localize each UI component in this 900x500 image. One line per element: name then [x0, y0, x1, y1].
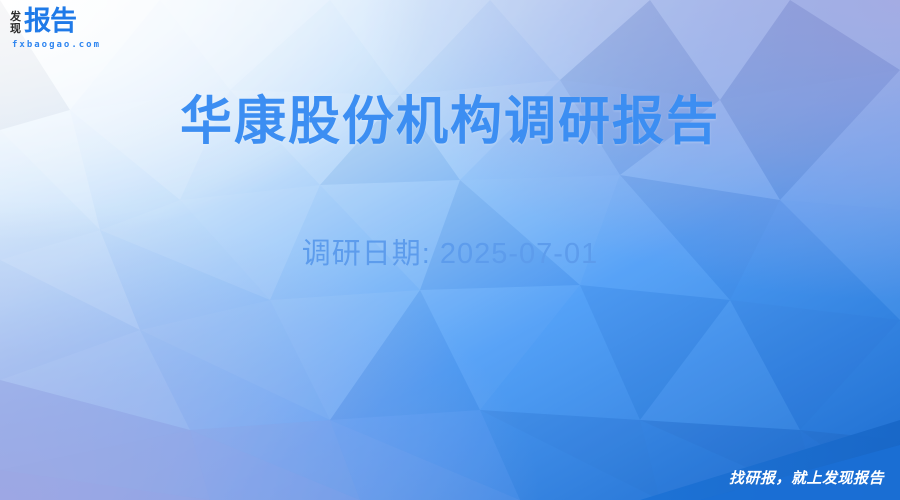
- survey-date-subtitle: 调研日期: 2025-07-01: [0, 234, 900, 274]
- brand-logo[interactable]: 发 现 报告 fxbaogao.com: [10, 8, 170, 58]
- logo-char-fa: 发: [10, 11, 21, 23]
- page-title: 华康股份机构调研报告: [0, 92, 900, 152]
- report-cover-slide: 发 现 报告 fxbaogao.com 华康股份机构调研报告 调研日期: 202…: [0, 0, 900, 500]
- logo-char-xian: 现: [10, 23, 21, 35]
- logo-mark: 发 现 报告: [10, 8, 76, 35]
- logo-primary-characters: 报告: [24, 8, 76, 35]
- logo-secondary-characters: 发 现: [10, 11, 21, 35]
- footer-slogan: 找研报，就上发现报告: [729, 469, 884, 489]
- logo-website-url: fxbaogao.com: [12, 40, 101, 50]
